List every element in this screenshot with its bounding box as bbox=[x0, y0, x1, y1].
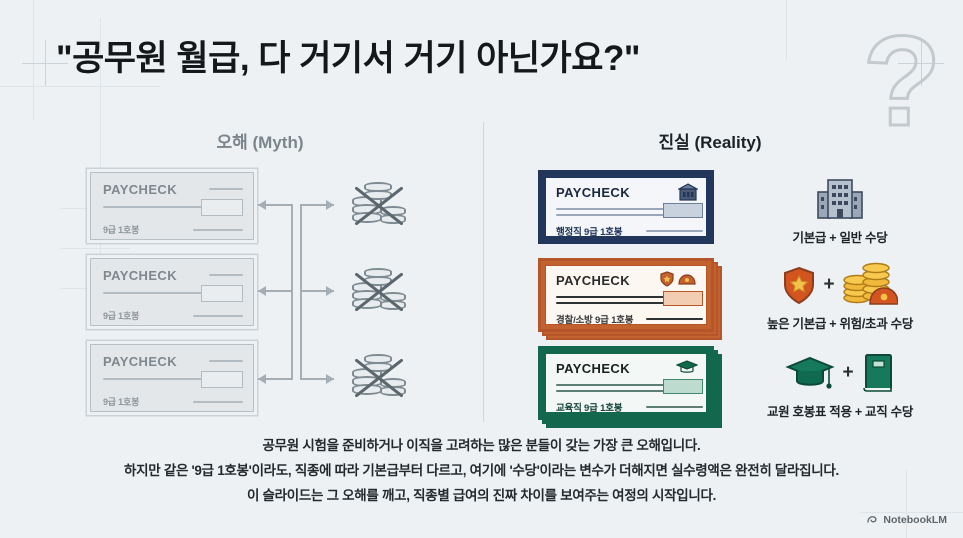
icon-group-admin: 기본급 + 일반 수당 bbox=[726, 170, 954, 246]
government-building-icon bbox=[678, 183, 698, 201]
paycheck-title: PAYCHECK bbox=[103, 354, 177, 369]
coins-icon bbox=[842, 260, 898, 306]
column-divider bbox=[483, 122, 484, 422]
myth-paycheck-card: PAYCHECK 9급 1호봉 bbox=[90, 258, 254, 326]
connector-bracket bbox=[258, 196, 334, 386]
notebooklm-logo-icon bbox=[866, 514, 878, 526]
coins-crossed-out-icon bbox=[348, 180, 410, 232]
caption-line: 공무원 시험을 준비하거나 이직을 고려하는 많은 분들이 갖는 가장 큰 오해… bbox=[0, 434, 963, 459]
icon-group-caption: 교원 호봉표 적용 + 교직 수당 bbox=[726, 401, 954, 420]
coins-crossed-out-icon bbox=[348, 266, 410, 318]
police-badge-icon bbox=[660, 271, 674, 287]
column-header-myth: 오해 (Myth) bbox=[120, 128, 400, 153]
paycheck-subtitle: 9급 1호봉 bbox=[103, 395, 139, 408]
reality-paycheck-card-education: PAYCHECK 교육직 9급 1호봉 bbox=[538, 346, 714, 420]
paycheck-title: PAYCHECK bbox=[556, 361, 630, 376]
paycheck-subtitle: 행정직 9급 1호봉 bbox=[556, 224, 622, 238]
caption-line: 이 슬라이드는 그 오해를 깨고, 직종별 급여의 진짜 차이를 보여주는 여정… bbox=[0, 484, 963, 509]
icon-group-education: + 교원 호봉표 적용 + 교직 수당 bbox=[726, 344, 954, 420]
office-building-icon bbox=[814, 174, 866, 220]
paycheck-subtitle: 경찰/소방 9급 1호봉 bbox=[556, 312, 633, 326]
green-book-icon bbox=[861, 352, 895, 394]
icon-group-caption: 높은 기본급 + 위험/초과 수당 bbox=[726, 313, 954, 332]
paycheck-title: PAYCHECK bbox=[103, 268, 177, 283]
reality-paycheck-card-police-fire: PAYCHECK 경찰/소방 9급 1호봉 bbox=[538, 258, 714, 332]
paycheck-subtitle: 9급 1호봉 bbox=[103, 309, 139, 322]
icon-group-police-fire: + 높은 기본급 + 위험/초과 수당 bbox=[726, 256, 954, 332]
myth-paycheck-card: PAYCHECK 9급 1호봉 bbox=[90, 344, 254, 412]
coins-crossed-out-icon bbox=[348, 352, 410, 404]
paycheck-title: PAYCHECK bbox=[103, 182, 177, 197]
caption-line: 하지만 같은 '9급 1호봉'이라도, 직종에 따라 기본급부터 다르고, 여기… bbox=[0, 459, 963, 484]
notebooklm-watermark: NotebookLM bbox=[866, 514, 947, 526]
graduation-cap-icon bbox=[676, 359, 698, 375]
watermark-label: NotebookLM bbox=[883, 514, 947, 526]
column-header-reality: 진실 (Reality) bbox=[560, 128, 860, 153]
question-mark-graphic: ? bbox=[863, 18, 941, 146]
myth-paycheck-card: PAYCHECK 9급 1호봉 bbox=[90, 172, 254, 240]
firefighter-helmet-icon bbox=[678, 273, 696, 287]
icon-group-caption: 기본급 + 일반 수당 bbox=[726, 227, 954, 246]
paycheck-title: PAYCHECK bbox=[556, 273, 630, 288]
paycheck-subtitle: 9급 1호봉 bbox=[103, 223, 139, 236]
police-badge-icon bbox=[782, 266, 816, 306]
paycheck-title: PAYCHECK bbox=[556, 185, 630, 200]
plus-sign: + bbox=[823, 274, 834, 306]
plus-sign: + bbox=[842, 362, 853, 394]
caption-block: 공무원 시험을 준비하거나 이직을 고려하는 많은 분들이 갖는 가장 큰 오해… bbox=[0, 434, 963, 509]
reality-paycheck-card-admin: PAYCHECK 행정직 9급 1호봉 bbox=[538, 170, 714, 244]
graduation-cap-icon bbox=[785, 354, 835, 394]
paycheck-subtitle: 교육직 9급 1호봉 bbox=[556, 400, 622, 414]
page-title: "공무원 월급, 다 거기서 거기 아닌가요?" bbox=[56, 38, 856, 79]
